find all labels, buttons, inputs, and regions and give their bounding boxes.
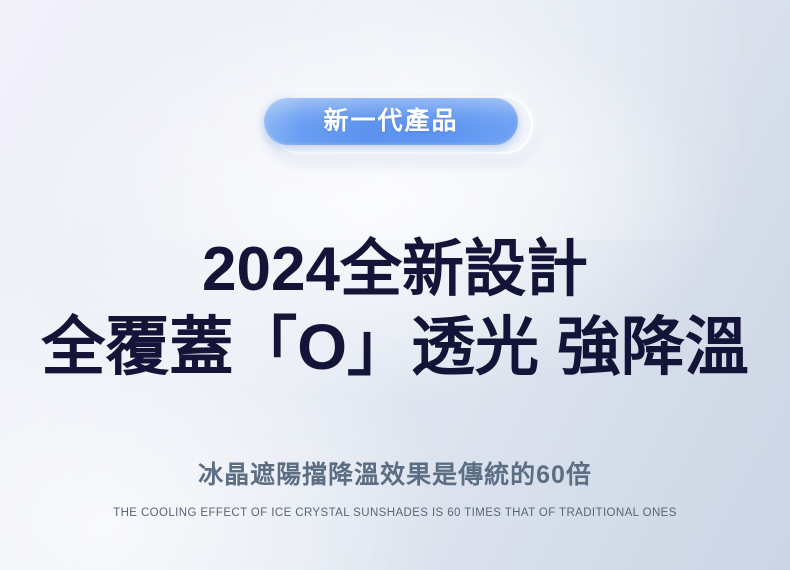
subtitle-chinese: 冰晶遮陽擋降溫效果是傳統的60倍 [0, 462, 790, 490]
subtitle-block: 冰晶遮陽擋降溫效果是傳統的60倍 THE COOLING EFFECT OF I… [0, 462, 790, 519]
badge-label: 新一代產品 [323, 109, 458, 134]
subtitle-english: THE COOLING EFFECT OF ICE CRYSTAL SUNSHA… [0, 507, 790, 520]
headline-line-1: 2024全新設計 [0, 238, 790, 301]
new-generation-badge[interactable]: 新一代產品 [264, 94, 526, 152]
headline-line-2: 全覆蓋「O」透光 強降溫 [0, 315, 790, 380]
headline-block: 2024全新設計 全覆蓋「O」透光 強降溫 [0, 238, 790, 381]
badge-pill: 新一代產品 [264, 98, 518, 145]
promo-banner: 新一代產品 2024全新設計 全覆蓋「O」透光 強降溫 冰晶遮陽擋降溫效果是傳統… [0, 0, 790, 570]
badge-container: 新一代產品 [0, 92, 790, 154]
